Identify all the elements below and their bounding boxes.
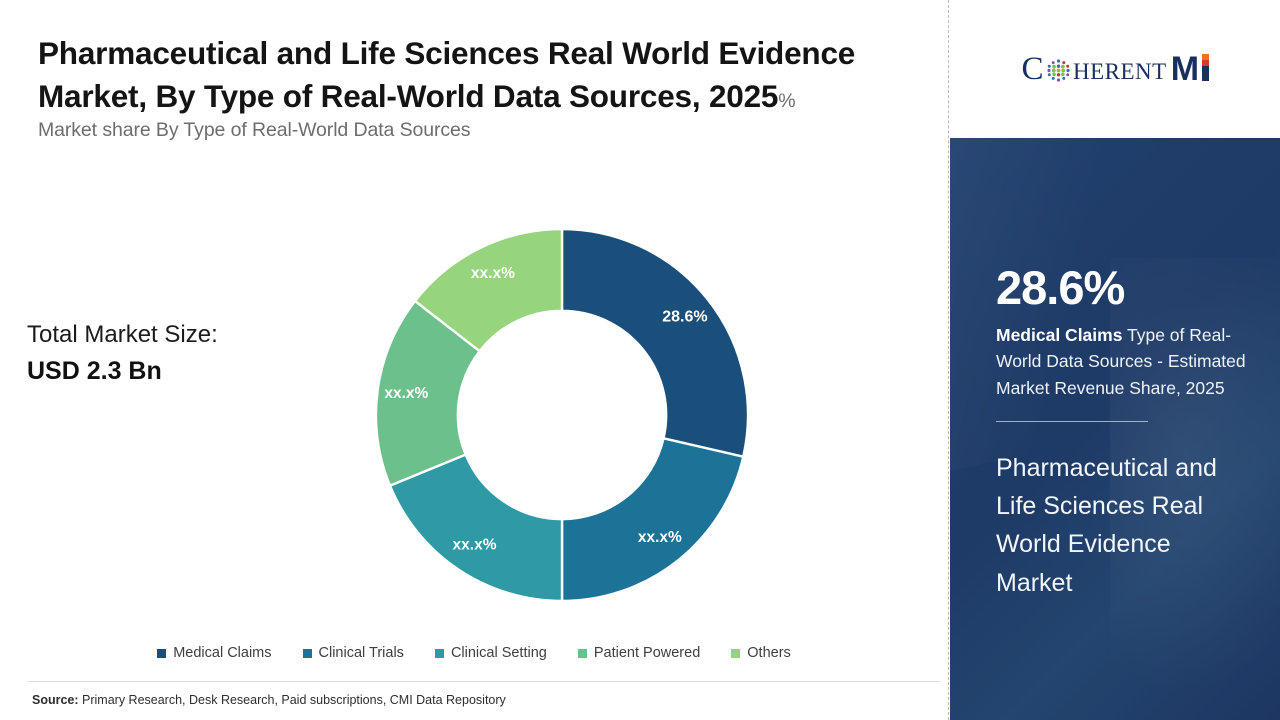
source-divider [28, 681, 940, 682]
legend-item[interactable]: Clinical Trials [303, 645, 404, 661]
chart-pane: Pharmaceutical and Life Sciences Real Wo… [0, 0, 948, 720]
legend-item[interactable]: Medical Claims [157, 645, 271, 661]
pane-divider [948, 0, 949, 720]
coherentmi-logo: C [1021, 50, 1208, 89]
legend-swatch-icon [435, 649, 444, 658]
stat-panel: 28.6% Medical Claims Type of Real-World … [950, 138, 1280, 720]
source-text: Primary Research, Desk Research, Paid su… [79, 693, 506, 707]
total-market-size-label: Total Market Size: [27, 318, 327, 353]
infographic-page: Pharmaceutical and Life Sciences Real Wo… [0, 0, 1280, 720]
donut-slice [562, 229, 748, 457]
chart-legend: Medical ClaimsClinical TrialsClinical Se… [0, 645, 948, 661]
logo-bar-icon [1202, 54, 1209, 81]
legend-swatch-icon [303, 649, 312, 658]
donut-chart-svg: 28.6%xx.x%xx.x%xx.x%xx.x% [375, 228, 749, 602]
legend-swatch-icon [731, 649, 740, 658]
panel-divider [996, 421, 1148, 422]
page-title: Pharmaceutical and Life Sciences Real Wo… [38, 35, 855, 114]
donut-chart: 28.6%xx.x%xx.x%xx.x%xx.x% [375, 228, 749, 602]
headline-stat-description: Medical Claims Type of Real-World Data S… [996, 322, 1246, 401]
donut-slice-label: xx.x% [471, 265, 515, 282]
donut-slice [562, 438, 743, 601]
donut-slice [390, 455, 562, 601]
title-block: Pharmaceutical and Life Sciences Real Wo… [38, 32, 858, 142]
logo-text-c: C [1021, 51, 1044, 88]
donut-slice-label: xx.x% [384, 385, 428, 402]
brand-pane: C [950, 0, 1280, 720]
headline-stat-segment: Medical Claims [996, 325, 1122, 345]
donut-slice-label: xx.x% [638, 529, 682, 546]
legend-label: Patient Powered [594, 645, 700, 661]
logo-text-herent: herent [1073, 51, 1167, 88]
total-market-size-value: USD 2.3 Bn [27, 353, 327, 389]
source-label: Source: [32, 693, 79, 707]
stat-panel-content: 28.6% Medical Claims Type of Real-World … [996, 138, 1246, 602]
legend-label: Clinical Setting [451, 645, 547, 661]
headline-stat: 28.6% [996, 264, 1246, 311]
logo-text-mi: M [1171, 50, 1209, 89]
legend-item[interactable]: Others [731, 645, 791, 661]
legend-swatch-icon [157, 649, 166, 658]
source-note: Source: Primary Research, Desk Research,… [32, 693, 506, 707]
donut-slice-label: xx.x% [453, 537, 497, 554]
legend-swatch-icon [578, 649, 587, 658]
legend-item[interactable]: Clinical Setting [435, 645, 547, 661]
globe-dots-icon [1045, 57, 1072, 84]
logo-text-m: M [1171, 50, 1199, 89]
legend-label: Medical Claims [173, 645, 271, 661]
total-market-size: Total Market Size: USD 2.3 Bn [27, 318, 327, 389]
legend-item[interactable]: Patient Powered [578, 645, 700, 661]
donut-slice-label: 28.6% [662, 308, 707, 325]
legend-label: Others [747, 645, 791, 661]
legend-label: Clinical Trials [319, 645, 404, 661]
panel-market-title: Pharmaceutical and Life Sciences Real Wo… [996, 449, 1246, 602]
logo-area: C [950, 0, 1280, 138]
